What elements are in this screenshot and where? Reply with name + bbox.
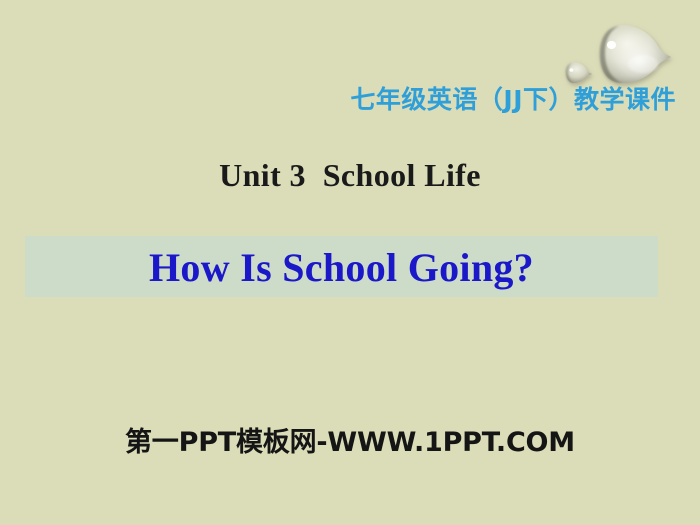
slide-canvas: 七年级英语（JJ下）教学课件 Unit 3 School Life How Is… (0, 0, 700, 525)
water-droplet-decoration (555, 12, 685, 92)
unit-title: Unit 3 School Life (0, 155, 700, 195)
course-info-line: 七年级英语（JJ下）教学课件 (0, 84, 676, 115)
site-watermark: 第一PPT模板网-WWW.1PPT.COM (0, 426, 700, 460)
water-droplet-small (566, 62, 592, 83)
water-droplet-large (600, 25, 671, 83)
lesson-title: How Is School Going? (25, 240, 658, 295)
